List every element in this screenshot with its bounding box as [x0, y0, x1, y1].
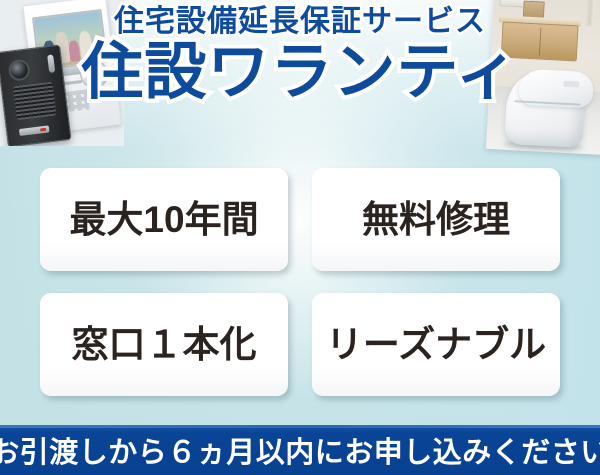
- speaker-grille-icon: [13, 82, 57, 121]
- feature-label: リーズナブル: [326, 326, 546, 363]
- wooden-cabinet: [501, 22, 579, 62]
- screen-person: [91, 39, 102, 59]
- promo-banner: 住宅設備延長保証サービス 住設ワランティ 最大10年間 無料修理 窓口１本化 リ…: [0, 0, 600, 475]
- deadline-text: お引渡しから６ヵ月以内にお申し込みください: [0, 429, 600, 471]
- feature-card-grid: 最大10年間 無料修理 窓口１本化 リーズナブル: [40, 168, 560, 396]
- door-station-image: [0, 44, 72, 146]
- toilet-side-panel: [563, 81, 579, 88]
- feature-label: 窓口１本化: [72, 326, 257, 363]
- toilet-body: [504, 70, 586, 148]
- feature-card: 無料修理: [312, 168, 560, 271]
- feature-label: 最大10年間: [69, 201, 258, 238]
- feature-label: 無料修理: [362, 201, 510, 238]
- feature-card: 最大10年間: [40, 168, 288, 271]
- monitor-dial-icon: [79, 59, 110, 90]
- door-station-light-strip: [47, 54, 55, 73]
- camera-lens-icon: [8, 58, 31, 81]
- deadline-banner: お引渡しから６ヵ月以内にお申し込みください: [0, 425, 600, 475]
- toilet-photo: [486, 0, 600, 155]
- door-station-call-button: [19, 125, 50, 136]
- feature-card: リーズナブル: [312, 293, 560, 396]
- feature-card: 窓口１本化: [40, 293, 288, 396]
- hanging-towel: [585, 0, 595, 26]
- intercom-photo: [0, 0, 124, 146]
